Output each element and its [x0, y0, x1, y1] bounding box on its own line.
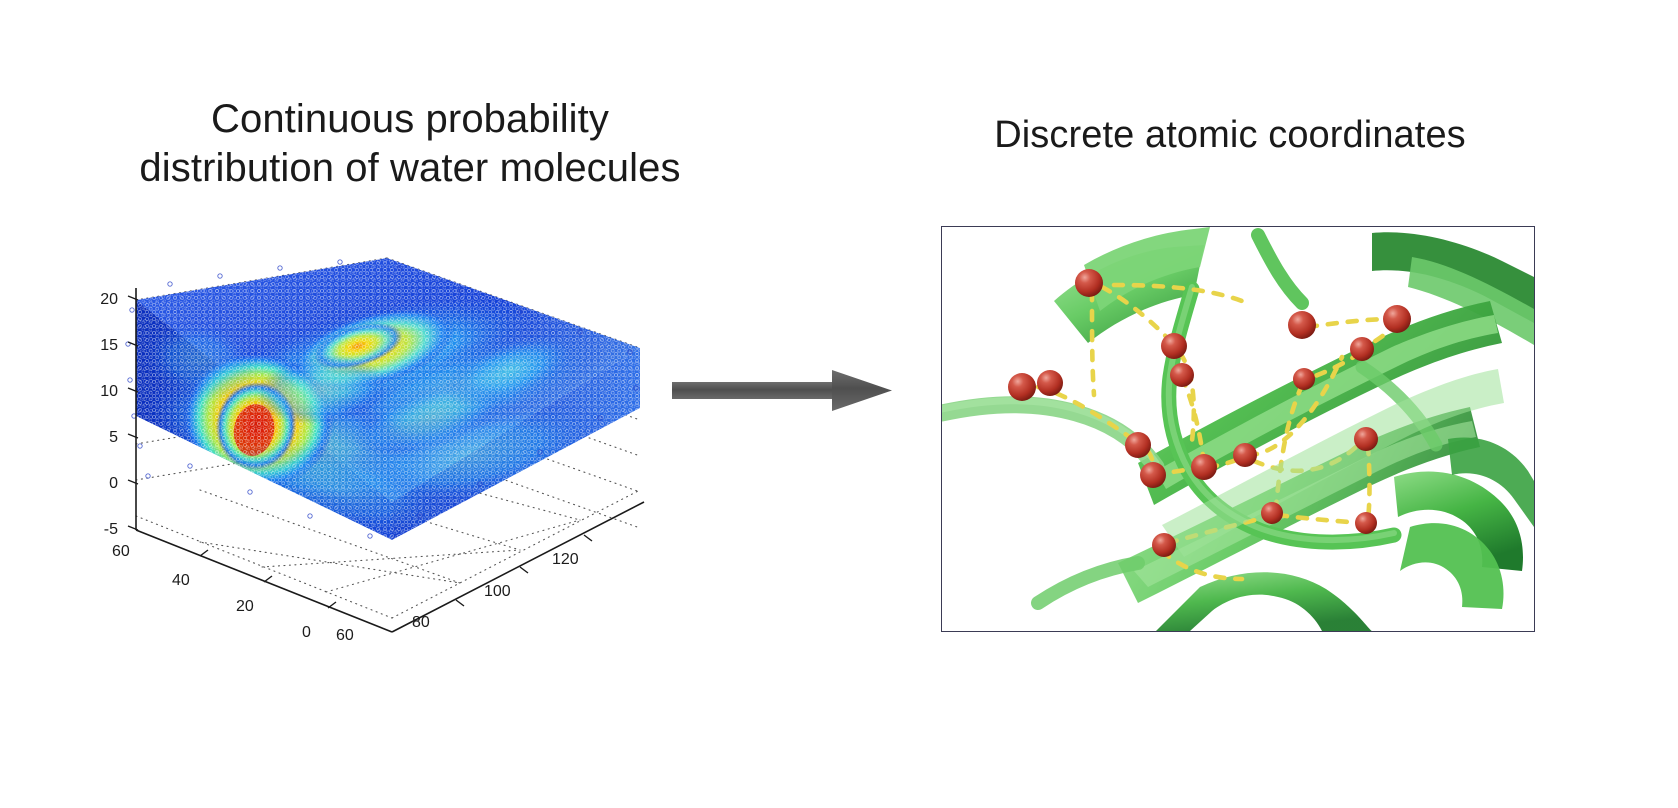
x-tick-80: 80	[412, 614, 430, 631]
left-title-line-1: Continuous probability	[60, 95, 760, 144]
plot-canvas: 20 15 10 5 0 -5 60 40 20 0 60 80 100 120	[40, 240, 700, 670]
probability-distribution-plot: 20 15 10 5 0 -5 60 40 20 0 60 80 100 120	[40, 240, 700, 670]
right-panel-title: Discrete atomic coordinates	[930, 112, 1530, 158]
protein-structure-image	[941, 226, 1535, 632]
density-cloud	[120, 250, 660, 556]
y-tick-40: 40	[172, 572, 190, 589]
left-panel-title: Continuous probability distribution of w…	[60, 95, 760, 193]
transition-arrow	[672, 368, 902, 420]
z-tick-15: 15	[100, 337, 118, 354]
z-tick-5: 5	[109, 429, 118, 446]
left-title-line-2: distribution of water molecules	[60, 144, 760, 193]
y-tick-60: 60	[112, 543, 130, 560]
arrow-canvas	[672, 368, 902, 420]
arrow-shape	[672, 370, 892, 411]
z-tick-0: 0	[109, 475, 118, 492]
x-tick-60: 60	[336, 627, 354, 644]
x-tick-120: 120	[552, 551, 579, 568]
z-tick-neg5: -5	[104, 521, 118, 538]
z-tick-10: 10	[100, 383, 118, 400]
y-tick-0: 0	[302, 624, 311, 641]
x-tick-100: 100	[484, 583, 511, 600]
protein-canvas	[942, 227, 1534, 631]
z-tick-20: 20	[100, 291, 118, 308]
y-tick-20: 20	[236, 598, 254, 615]
